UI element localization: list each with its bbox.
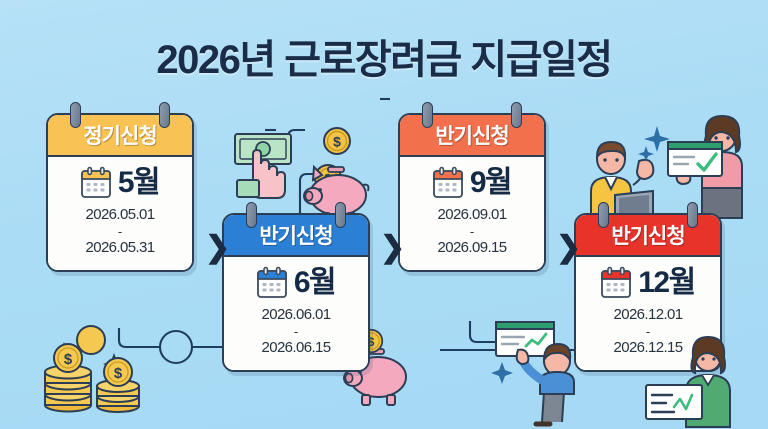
chevron-separator-1: ❯ (205, 233, 230, 263)
svg-text:$: $ (64, 351, 73, 368)
schedule-card-2[interactable]: 반기신청 (222, 213, 370, 372)
card-month-3: 9월 (470, 168, 511, 198)
card-date-start-3: 2026.09.01 (406, 205, 538, 225)
person-holding-document-icon (660, 333, 766, 429)
card-month-4: 12월 (638, 268, 694, 298)
banknote-hand-icon (231, 128, 303, 206)
card-pin-right (159, 102, 170, 128)
dollar-coin-icon: $ (322, 126, 352, 156)
schedule-card-1[interactable]: 정기신청 (46, 113, 194, 272)
chevron-separator-2: ❯ (380, 233, 405, 263)
chevron-separator-3: ❯ (556, 233, 581, 263)
person-holding-document-icon (664, 110, 760, 222)
card-date-end-2: 2026.06.15 (230, 338, 362, 358)
card-date-end-3: 2026.09.15 (406, 238, 538, 258)
card-pin-left (598, 202, 609, 228)
calendar-icon (433, 167, 463, 198)
card-pin-left (422, 102, 433, 128)
card-date-dash-2: - (230, 325, 362, 338)
calendar-icon (81, 167, 111, 198)
card-pin-right (335, 202, 346, 228)
card-date-start-4: 2026.12.01 (582, 305, 714, 325)
card-pin-right (687, 202, 698, 228)
card-pin-left (246, 202, 257, 228)
card-month-2: 6월 (294, 268, 335, 298)
person-pointing-screen-icon (490, 318, 600, 429)
card-date-end-1: 2026.05.31 (54, 238, 186, 258)
coin-stack-icon: $ $ (38, 320, 148, 415)
svg-text:$: $ (114, 365, 123, 382)
page-title: 2026년 근로장려금 지급일정 (0, 27, 768, 85)
card-date-dash-3: - (406, 225, 538, 238)
card-month-1: 5월 (118, 168, 159, 198)
card-pin-left (70, 102, 81, 128)
calendar-icon (601, 267, 631, 298)
card-date-start-2: 2026.06.01 (230, 305, 362, 325)
schedule-card-3[interactable]: 반기신청 (398, 113, 546, 272)
svg-text:$: $ (333, 134, 341, 150)
card-pin-right (511, 102, 522, 128)
sparkle-icon (639, 124, 669, 160)
calendar-icon (257, 267, 287, 298)
card-date-start-1: 2026.05.01 (54, 205, 186, 225)
card-date-dash-1: - (54, 225, 186, 238)
